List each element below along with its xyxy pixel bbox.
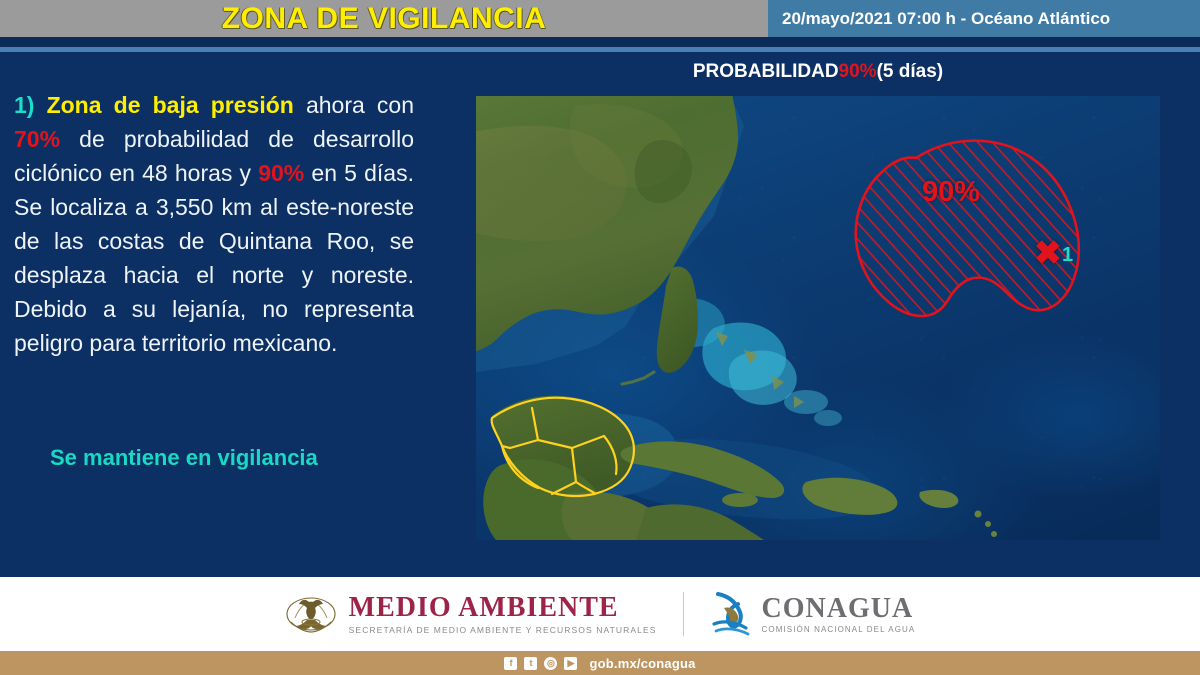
map-probability-label: PROBABILIDAD 90% (5 días): [476, 58, 1160, 86]
conagua-logo: CONAGUA COMISIÓN NACIONAL DEL AGUA: [710, 590, 916, 638]
conagua-subtitle: COMISIÓN NACIONAL DEL AGUA: [762, 625, 916, 634]
status-badge: Se mantiene en vigilancia: [50, 445, 318, 471]
bulletin-body-3: en 5 días. Se localiza a 3,550 km al est…: [14, 160, 414, 356]
map-label-percent: 90%: [839, 61, 877, 83]
bulletin-number: 1): [14, 92, 34, 118]
probability-5d: 90%: [258, 160, 304, 186]
instagram-icon[interactable]: ◎: [544, 657, 557, 670]
header-divider-light: [0, 47, 1200, 52]
storm-marker-icon: ✖: [1034, 236, 1062, 269]
semarnat-logo: MEDIO AMBIENTE SECRETARÍA DE MEDIO AMBIE…: [285, 588, 657, 640]
footer-divider: [683, 592, 684, 636]
header-datetime: 20/mayo/2021 07:00 h - Océano Atlántico: [768, 0, 1200, 37]
facebook-icon[interactable]: f: [504, 657, 517, 670]
probability-48h: 70%: [14, 126, 60, 152]
bulletin-text: 1) Zona de baja presión ahora con 70% de…: [14, 88, 414, 360]
map-label-suffix: (5 días): [877, 61, 944, 83]
conagua-name: CONAGUA: [762, 594, 916, 623]
header-bar: ZONA DE VIGILANCIA 20/mayo/2021 07:00 h …: [0, 0, 1200, 37]
zone-probability-label: 90%: [922, 176, 980, 209]
semarnat-subtitle: SECRETARÍA DE MEDIO AMBIENTE Y RECURSOS …: [349, 625, 657, 635]
footer-logos: MEDIO AMBIENTE SECRETARÍA DE MEDIO AMBIE…: [0, 577, 1200, 651]
twitter-icon[interactable]: t: [524, 657, 537, 670]
social-links: f t ◎ ▶ gob.mx/conagua: [0, 651, 1200, 675]
mexico-coat-of-arms-icon: [285, 588, 337, 640]
storm-marker-number: 1: [1062, 245, 1073, 265]
bulletin-body-1: ahora con: [294, 92, 414, 118]
conagua-water-eagle-icon: [710, 590, 752, 638]
website-url[interactable]: gob.mx/conagua: [589, 656, 695, 671]
bulletin-graphic: ZONA DE VIGILANCIA 20/mayo/2021 07:00 h …: [0, 0, 1200, 675]
map-label-prefix: PROBABILIDAD: [693, 61, 839, 83]
semarnat-name: MEDIO AMBIENTE: [349, 593, 657, 622]
youtube-icon[interactable]: ▶: [564, 657, 577, 670]
header-divider-dark: [0, 37, 1200, 47]
bulletin-headline: Zona de baja presión: [47, 92, 294, 118]
page-title: ZONA DE VIGILANCIA: [0, 0, 768, 37]
satellite-map[interactable]: 90% ✖ 1: [476, 96, 1160, 540]
landmass-layer: [476, 96, 1160, 540]
